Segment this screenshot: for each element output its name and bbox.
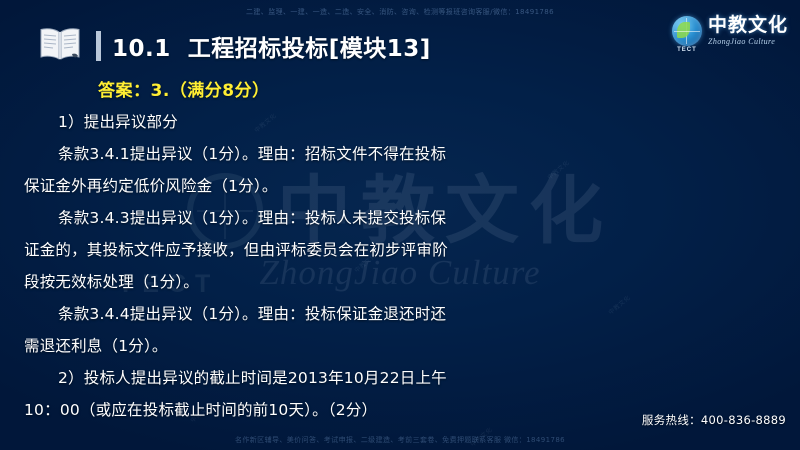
open-book-icon [38,27,82,66]
service-hotline: 服务热线：400-836-8889 [642,412,786,428]
title-accent-bar [96,31,101,61]
content-paragraph: 2）投标人提出异议的截止时间是2013年10月22日上午 [0,363,800,394]
service-hotline-number: 400-836-8889 [701,413,786,427]
bottom-marquee-text: 名作新区辅导、美价问答、考试申报、二级建造、考前三套卷、免费押题联系客服 微信：… [0,435,800,445]
content-paragraph: 保证金外再约定低价风险金（1分）。 [0,171,800,202]
slide-header: 10.1 工程招标投标[模块13] [0,24,470,68]
leaf-icon [677,22,690,38]
content-paragraph: 证金的，其投标文件应予接收，但由评标委员会在初步评审阶 [0,235,800,266]
page-title-label: 工程招标投标[模块13] [188,36,431,62]
content-paragraph: 条款3.4.1提出异议（1分）。理由：招标文件不得在投标 [0,139,800,170]
content-paragraph: 段按无效标处理（1分）。 [0,267,800,298]
service-hotline-label: 服务热线： [642,413,701,427]
answer-line: 答案：3.（满分8分） [98,76,800,101]
content-paragraph: 需退还利息（1分）。 [0,331,800,362]
brand-name-en: ZhongJiao Culture [708,38,788,46]
content-paragraph: 1）提出异议部分 [0,107,800,138]
slide-content: 答案：3.（满分8分） 1）提出异议部分 条款3.4.1提出异议（1分）。理由：… [0,76,800,427]
globe-logo-icon: TECT [672,16,702,46]
brand-name-cn: 中教文化 [708,16,788,35]
brand-text: 中教文化 ZhongJiao Culture [708,16,788,46]
content-paragraph: 条款3.4.4提出异议（1分）。理由：投标保证金退还时还 [0,299,800,330]
page-title: 10.1 工程招标投标[模块13] [112,29,431,63]
content-paragraph: 条款3.4.3提出异议（1分）。理由：投标人未提交投标保 [0,203,800,234]
page-title-number: 10.1 [112,36,171,62]
slide-root: 中教文化 ZhongJiao Culture TECT 中教文化 中教文化 中教… [0,0,800,450]
brand-mark: TECT [672,47,702,53]
brand-logo: TECT 中教文化 ZhongJiao Culture [672,16,788,46]
